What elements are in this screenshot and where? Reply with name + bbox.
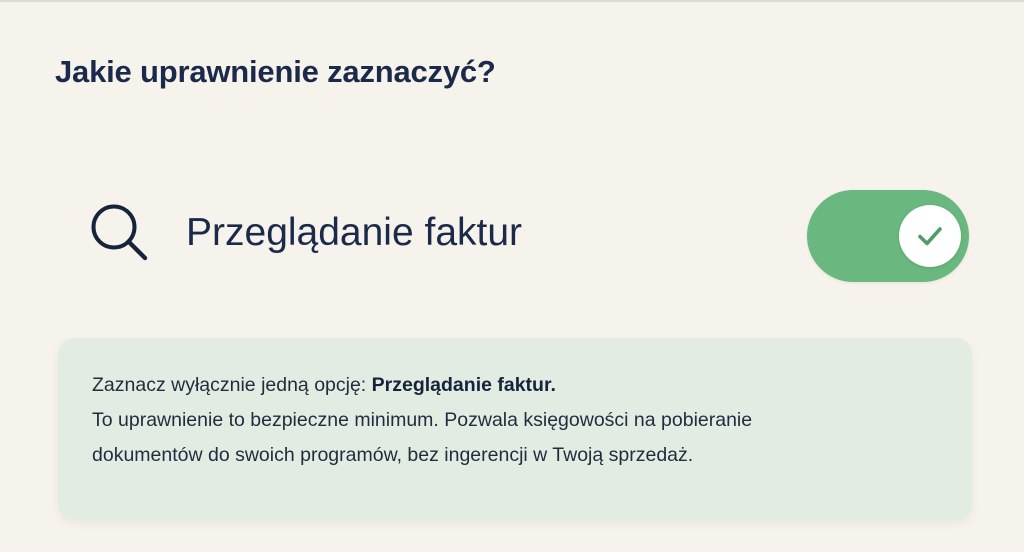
info-line-1-strong: Przeglądanie faktur. <box>372 374 556 396</box>
info-line-3: dokumentów do swoich programów, bez inge… <box>92 438 938 473</box>
permission-option-label: Przeglądanie faktur <box>186 198 522 268</box>
screen-root: Jakie uprawnienie zaznaczyć? Przeglądani… <box>0 0 1024 552</box>
permission-row[interactable]: Przeglądanie faktur <box>55 190 969 282</box>
toggle-knob[interactable] <box>899 205 961 267</box>
info-line-2: To uprawnienie to bezpieczne minimum. Po… <box>92 403 938 438</box>
permission-toggle[interactable] <box>807 190 969 282</box>
info-line-1: Zaznacz wyłącznie jedną opcję: Przegląda… <box>92 368 938 403</box>
info-line-1-prefix: Zaznacz wyłącznie jedną opcję: <box>92 374 372 396</box>
page-title: Jakie uprawnienie zaznaczyć? <box>55 54 496 90</box>
info-box: Zaznacz wyłącznie jedną opcję: Przegląda… <box>58 338 972 520</box>
check-icon <box>913 219 947 253</box>
search-icon <box>87 200 153 266</box>
